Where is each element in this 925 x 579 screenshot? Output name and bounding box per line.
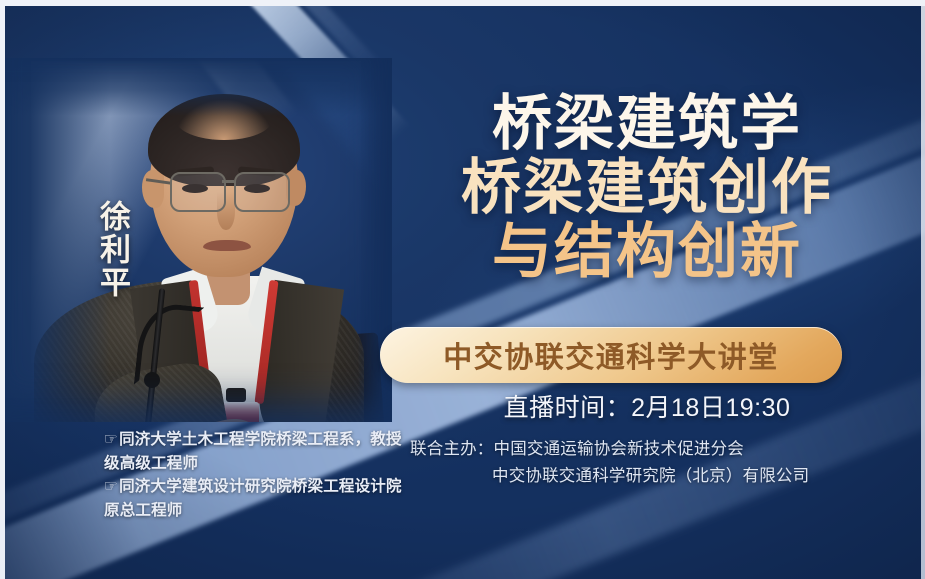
bio-line-2: ☞同济大学建筑设计研究院桥梁工程设计院原总工程师: [104, 475, 404, 522]
bio-line-1-text: 同济大学土木工程学院桥梁工程系，教授级高级工程师: [104, 431, 402, 472]
title-line-2: 桥梁建筑创作: [386, 156, 908, 220]
frame-left: [0, 0, 5, 579]
frame-right: [921, 0, 925, 579]
series-banner: 中交协联交通科学大讲堂: [380, 327, 842, 383]
pointing-hand-icon: ☞: [104, 431, 118, 448]
series-banner-label: 中交协联交通科学大讲堂: [443, 334, 779, 376]
speaker-bio: ☞同济大学土木工程学院桥梁工程系，教授级高级工程师 ☞同济大学建筑设计研究院桥梁…: [104, 428, 404, 522]
webinar-poster: 徐利平 ☞同济大学土木工程学院桥梁工程系，教授级高级工程师 ☞同济大学建筑设计研…: [0, 0, 925, 579]
live-time: 直播时间：2月18日19:30: [386, 388, 908, 424]
poster-title: 桥梁建筑学 桥梁建筑创作 与结构创新: [386, 92, 908, 285]
organizer-line-1: 联合主办：中国交通运输协会新技术促进分会: [410, 436, 910, 463]
title-line-3: 与结构创新: [386, 220, 908, 284]
speaker-photo: [0, 58, 392, 422]
pointing-hand-icon-2: ☞: [104, 478, 118, 495]
frame-top: [0, 0, 925, 6]
organizer-line-2: 中交协联交通科学研究院（北京）有限公司: [410, 463, 910, 490]
speaker-name: 徐利平: [88, 200, 128, 299]
organizers: 联合主办：中国交通运输协会新技术促进分会 中交协联交通科学研究院（北京）有限公司: [410, 436, 910, 489]
bio-line-1: ☞同济大学土木工程学院桥梁工程系，教授级高级工程师: [104, 428, 404, 475]
title-line-1: 桥梁建筑学: [386, 92, 908, 156]
bio-line-2-text: 同济大学建筑设计研究院桥梁工程设计院原总工程师: [104, 478, 402, 519]
